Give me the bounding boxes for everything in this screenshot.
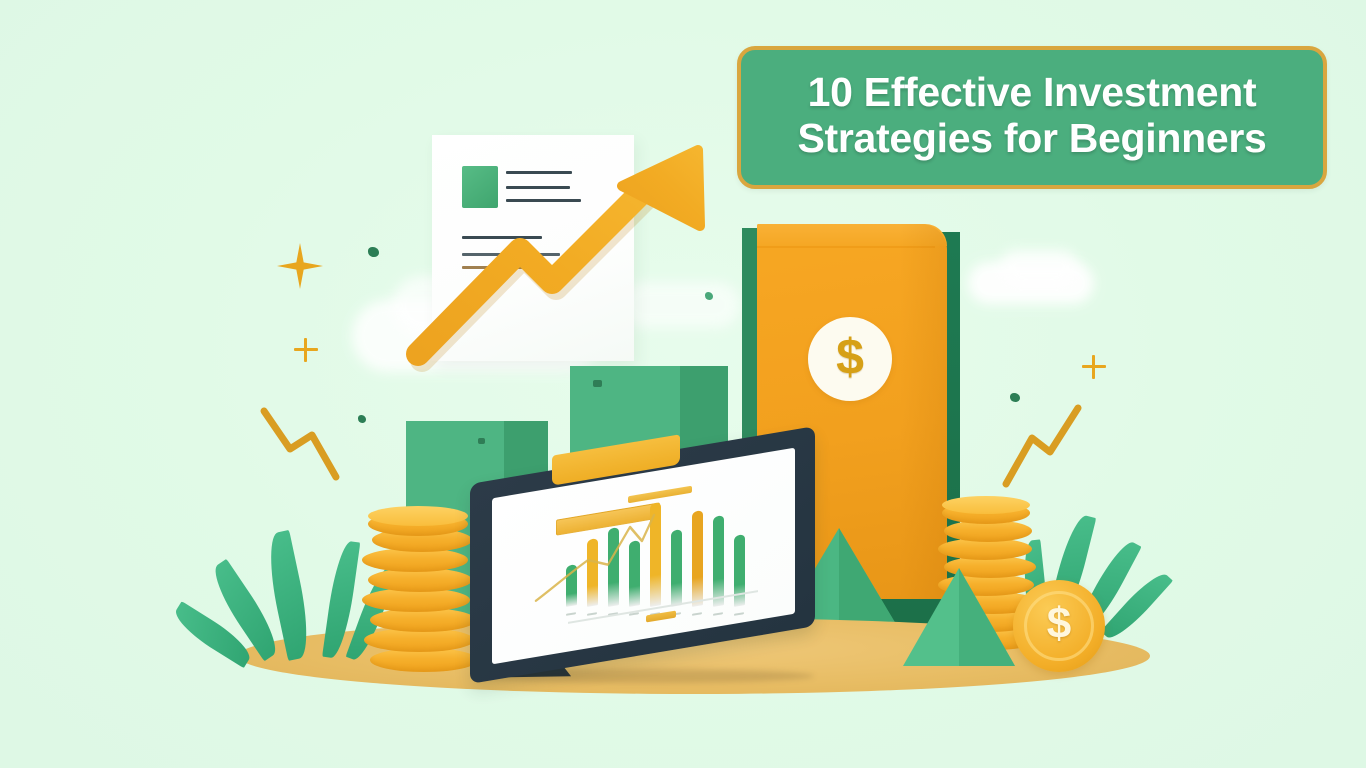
dollar-badge: $ — [808, 317, 892, 401]
dot-icon — [705, 292, 713, 300]
tablet-with-chart — [470, 455, 850, 700]
dollar-coin: $ — [1013, 580, 1105, 672]
coin-top-face — [942, 496, 1030, 514]
illustration-canvas: $ — [0, 0, 1366, 768]
green-triangle-shade — [959, 568, 1015, 666]
title-line-2: Strategies for Beginners — [798, 116, 1267, 162]
title-banner: 10 Effective Investment Strategies for B… — [737, 46, 1327, 189]
chart-bar — [734, 534, 745, 607]
dot-icon — [368, 247, 379, 257]
title-line-1: 10 Effective Investment — [808, 70, 1257, 116]
plus-icon — [1092, 355, 1095, 379]
dollar-sign-icon: $ — [1047, 602, 1071, 646]
cloud-icon — [1000, 250, 1078, 284]
zigzag-line-icon — [258, 405, 368, 485]
money-bag-shading — [900, 224, 947, 599]
bar-marker-dot — [593, 380, 602, 387]
upward-growth-arrow — [400, 140, 740, 380]
dollar-sign-icon: $ — [836, 332, 864, 382]
dollar-coin-rim: $ — [1024, 591, 1094, 661]
bar-marker-dot — [478, 438, 485, 444]
plus-icon — [304, 338, 307, 362]
zigzag-line-icon — [1000, 400, 1100, 490]
coin-top-face — [368, 506, 468, 526]
sparkle-icon — [277, 243, 323, 289]
